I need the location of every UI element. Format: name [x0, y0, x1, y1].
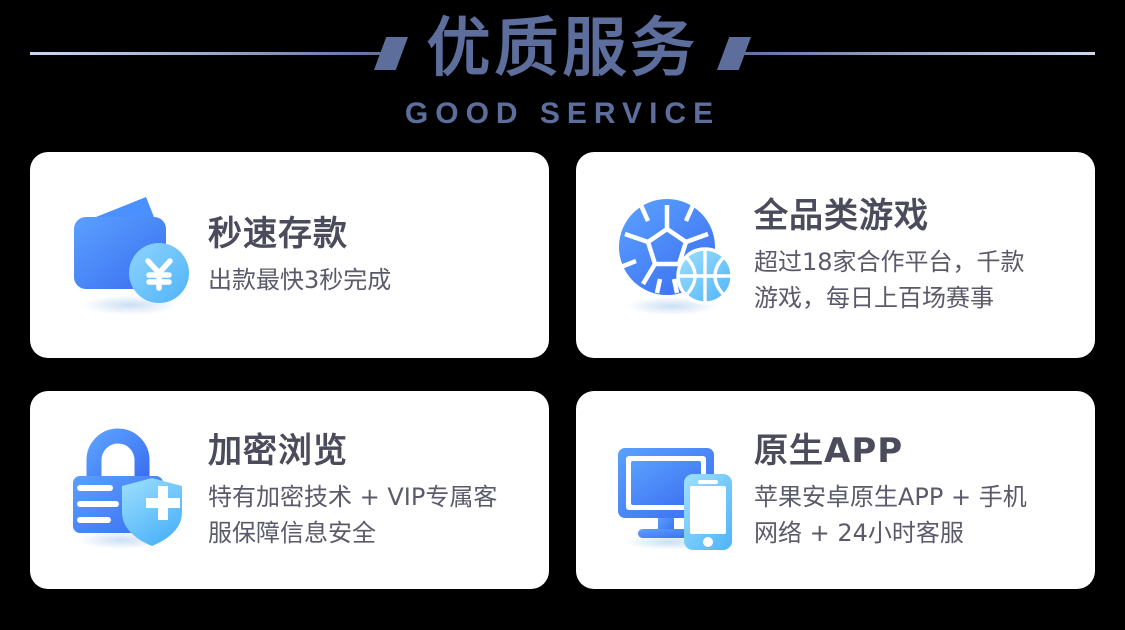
card-title: 秒速存款	[208, 212, 531, 256]
page-subtitle: GOOD SERVICE	[0, 96, 1125, 132]
card-title: 全品类游戏	[754, 194, 1077, 238]
card-title: 加密浏览	[208, 429, 531, 473]
feature-card-text: 秒速存款 出款最快3秒完成	[208, 212, 549, 298]
feature-card-native-app[interactable]: 原生APP 苹果安卓原生APP + 手机网络 + 24小时客服	[576, 391, 1095, 589]
card-subtitle: 出款最快3秒完成	[208, 262, 531, 298]
wallet-yen-icon	[64, 189, 196, 321]
lock-shield-icon	[64, 424, 196, 556]
feature-card-text: 全品类游戏 超过18家合作平台，千款游戏，每日上百场赛事	[754, 194, 1095, 316]
feature-card-deposit[interactable]: 秒速存款 出款最快3秒完成	[30, 152, 549, 358]
promo-banner: 优质服务 GOOD SERVICE	[0, 0, 1125, 630]
feature-card-text: 原生APP 苹果安卓原生APP + 手机网络 + 24小时客服	[754, 429, 1095, 551]
card-subtitle: 特有加密技术 + VIP专属客服保障信息安全	[208, 479, 531, 551]
card-subtitle: 苹果安卓原生APP + 手机网络 + 24小时客服	[754, 479, 1077, 551]
feature-card-text: 加密浏览 特有加密技术 + VIP专属客服保障信息安全	[208, 429, 549, 551]
card-subtitle: 超过18家合作平台，千款游戏，每日上百场赛事	[754, 244, 1077, 316]
header: 优质服务 GOOD SERVICE	[0, 0, 1125, 145]
monitor-phone-icon	[610, 424, 742, 556]
page-title: 优质服务	[0, 8, 1125, 90]
feature-card-encryption[interactable]: 加密浏览 特有加密技术 + VIP专属客服保障信息安全	[30, 391, 549, 589]
feature-card-games[interactable]: 全品类游戏 超过18家合作平台，千款游戏，每日上百场赛事	[576, 152, 1095, 358]
card-title: 原生APP	[754, 429, 1077, 473]
soccer-basketball-icon	[610, 189, 742, 321]
feature-card-grid: 秒速存款 出款最快3秒完成	[30, 152, 1095, 589]
